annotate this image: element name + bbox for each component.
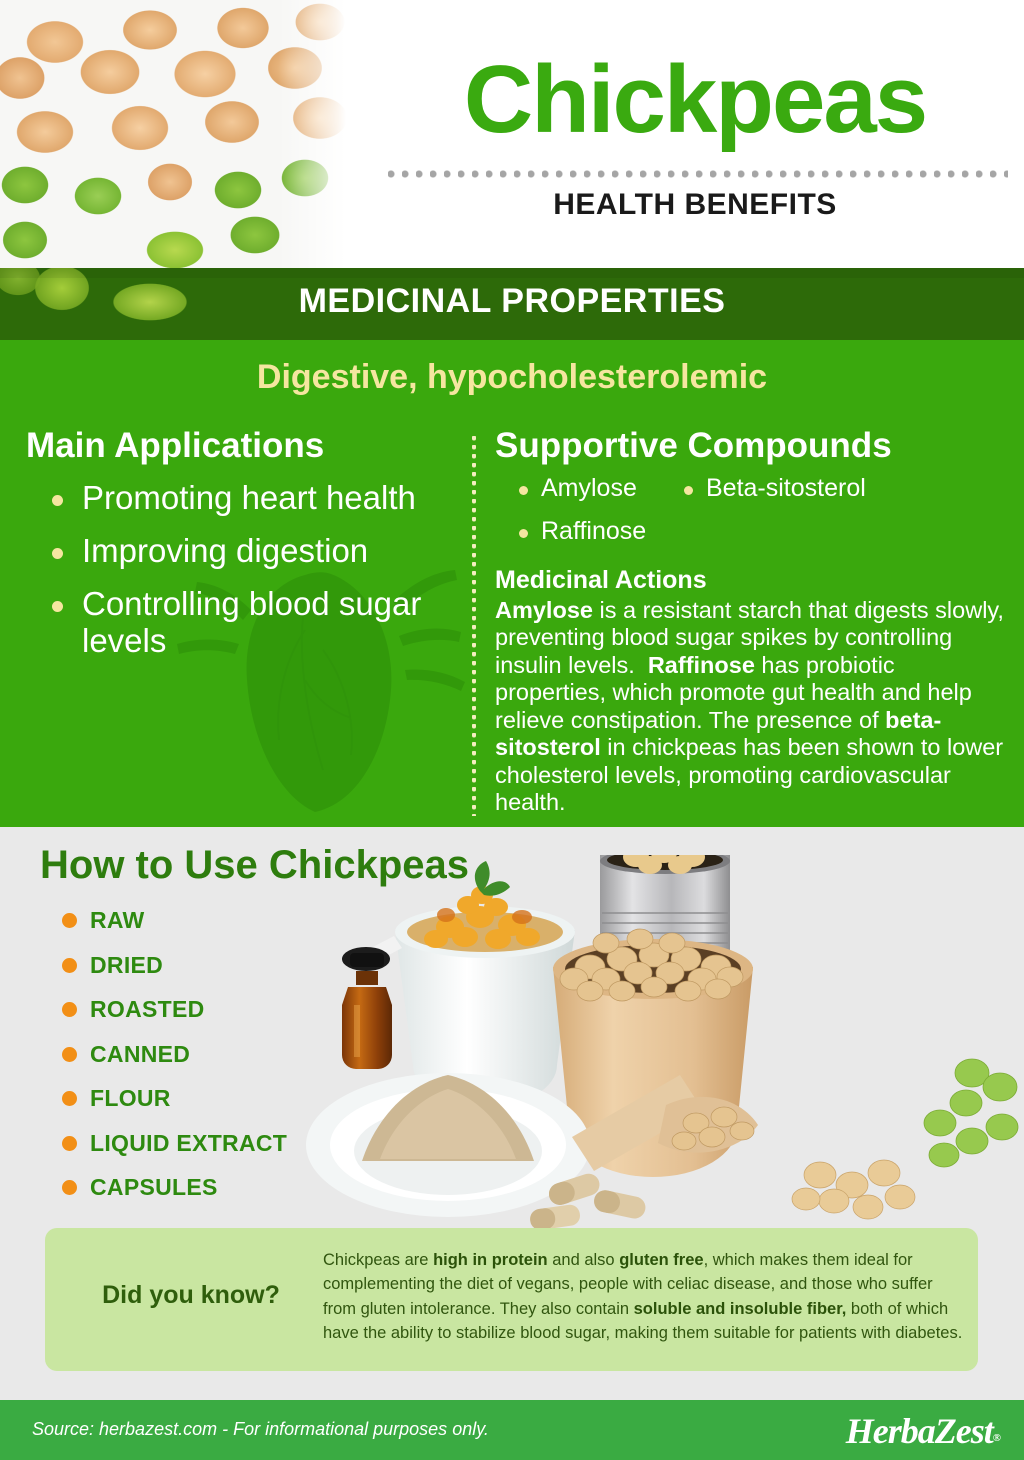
how-to-use-list: RAW DRIED ROASTED CANNED FLOUR LIQUID EX… [58, 907, 287, 1219]
supportive-compounds-list: Amylose Beta-sitosterol Raffinose [503, 474, 1005, 564]
list-item: CAPSULES [58, 1174, 287, 1201]
chickpeas-header-photo [0, 0, 358, 268]
did-you-know-text: Chickpeas are high in protein and also g… [323, 1248, 963, 1346]
did-you-know-box: Did you know? Chickpeas are high in prot… [45, 1228, 978, 1371]
title-dotted-rule [388, 170, 1008, 178]
medicinal-actions-heading: Medicinal Actions [495, 566, 1005, 595]
infographic-page: Chickpeas HEALTH BENEFITS MEDICINAL PROP… [0, 0, 1024, 1460]
list-item: Controlling blood sugar levels [44, 586, 456, 660]
main-applications-heading: Main Applications [26, 426, 456, 466]
header: Chickpeas HEALTH BENEFITS [0, 0, 1024, 268]
main-applications-column: Main Applications Promoting heart health… [26, 426, 456, 676]
list-item: FLOUR [58, 1085, 287, 1112]
list-item: Promoting heart health [44, 480, 456, 517]
green-content-section: Digestive, hypocholesterolemic Main Appl… [0, 340, 1024, 827]
registered-mark: ® [993, 1432, 1000, 1444]
supportive-compounds-heading: Supportive Compounds [495, 426, 1005, 466]
list-item: ROASTED [58, 996, 287, 1023]
herbazest-logo[interactable]: HerbaZest® [846, 1410, 1000, 1452]
list-item: RAW [58, 907, 287, 934]
list-item: LIQUID EXTRACT [58, 1130, 287, 1157]
footer-source-text: Source: herbazest.com - For informationa… [32, 1419, 489, 1440]
list-item: Amylose [513, 474, 637, 503]
did-you-know-label: Did you know? [65, 1281, 317, 1310]
list-item: CANNED [58, 1041, 287, 1068]
main-applications-list: Promoting heart health Improving digesti… [44, 480, 456, 660]
medicinal-actions-text: Amylose is a resistant starch that diges… [495, 597, 1005, 817]
medicinal-properties-title: MEDICINAL PROPERTIES [0, 282, 1024, 321]
column-divider [472, 436, 476, 816]
list-item: Improving digestion [44, 533, 456, 570]
footer: Source: herbazest.com - For informationa… [0, 1400, 1024, 1460]
bar-top-shade [0, 268, 1024, 278]
page-subtitle: HEALTH BENEFITS [380, 188, 1010, 222]
medicinal-properties-value: Digestive, hypocholesterolemic [0, 358, 1024, 397]
medicinal-properties-bar: MEDICINAL PROPERTIES [0, 268, 1024, 340]
brand-name: HerbaZest [846, 1411, 993, 1451]
list-item: DRIED [58, 952, 287, 979]
list-item: Beta-sitosterol [678, 474, 866, 503]
chickpea-products-photo [300, 855, 1024, 1230]
list-item: Raffinose [513, 517, 646, 546]
photo-fade [278, 0, 358, 268]
page-title: Chickpeas [380, 52, 1010, 148]
supportive-compounds-column: Supportive Compounds Amylose Beta-sitost… [495, 426, 1005, 817]
